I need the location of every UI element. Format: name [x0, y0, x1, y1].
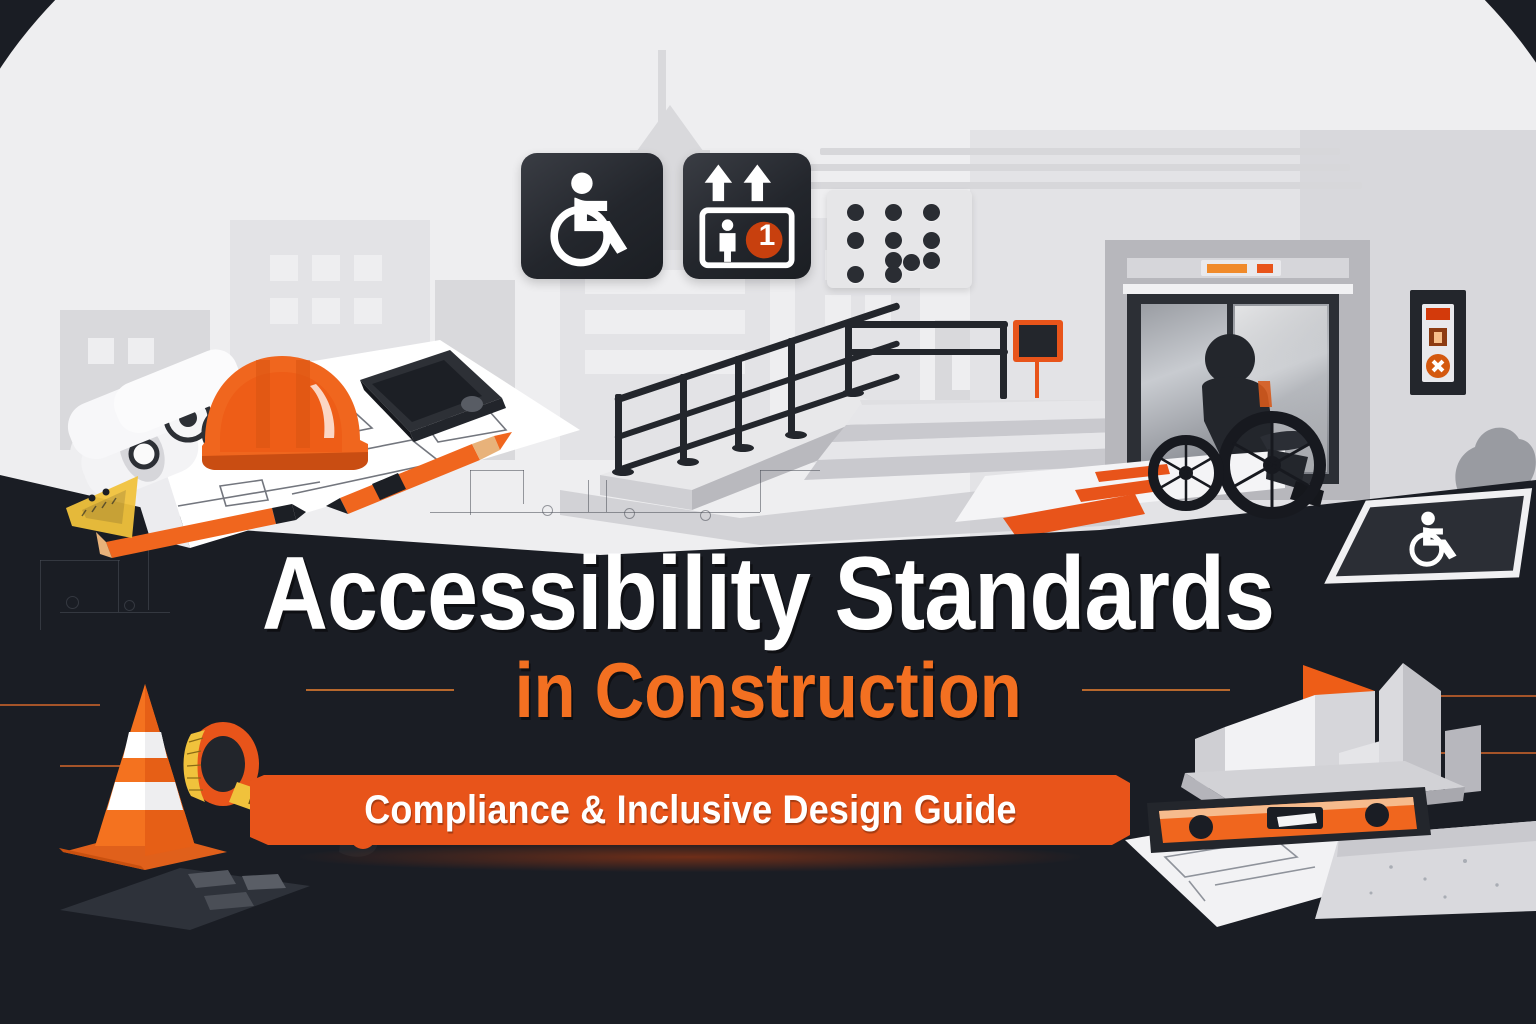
wheelchair-accessible-icon — [521, 153, 663, 279]
braille-dot — [923, 232, 940, 249]
braille-dot — [847, 266, 864, 283]
poster-subtitle: in Construction — [514, 651, 1021, 729]
braille-dot — [923, 204, 940, 221]
elevator-call-panel[interactable] — [1410, 290, 1466, 395]
braille-dot — [885, 232, 902, 249]
braille-dot — [885, 266, 902, 283]
elevator-icon — [683, 153, 811, 279]
elevator-sign-plate: 1 — [683, 153, 811, 279]
braille-dot — [847, 232, 864, 249]
banner-subtitle-text: Compliance & Inclusive Design Guide — [364, 788, 1016, 833]
braille-dot — [923, 252, 940, 269]
panel-button-up[interactable] — [1426, 308, 1450, 320]
subtitle-banner: Compliance & Inclusive Design Guide — [250, 775, 1130, 845]
exit-sign-icon — [1013, 320, 1063, 362]
elevator-floor-number: 1 — [755, 221, 779, 251]
desk-tools-group — [20, 280, 620, 560]
braille-plate — [827, 190, 972, 288]
wheelchair-sign-plate — [521, 153, 663, 279]
divider-right — [1082, 689, 1230, 691]
braille-dot — [903, 254, 920, 271]
up-arrow-icon — [744, 164, 771, 201]
banner-shadow — [300, 842, 1080, 872]
panel-button-square[interactable] — [1429, 328, 1447, 346]
subtitle-row: in Construction — [0, 651, 1536, 729]
up-arrow-icon — [705, 164, 732, 201]
poster-title: Accessibility Standards — [92, 545, 1444, 645]
braille-dot — [885, 204, 902, 221]
braille-dot — [847, 204, 864, 221]
elevator-indicator — [1201, 260, 1281, 276]
title-block: Accessibility Standards in Construction — [0, 545, 1536, 729]
divider-left — [306, 689, 454, 691]
poster-root: 1 — [0, 0, 1536, 1024]
panel-button-close[interactable] — [1426, 354, 1450, 378]
